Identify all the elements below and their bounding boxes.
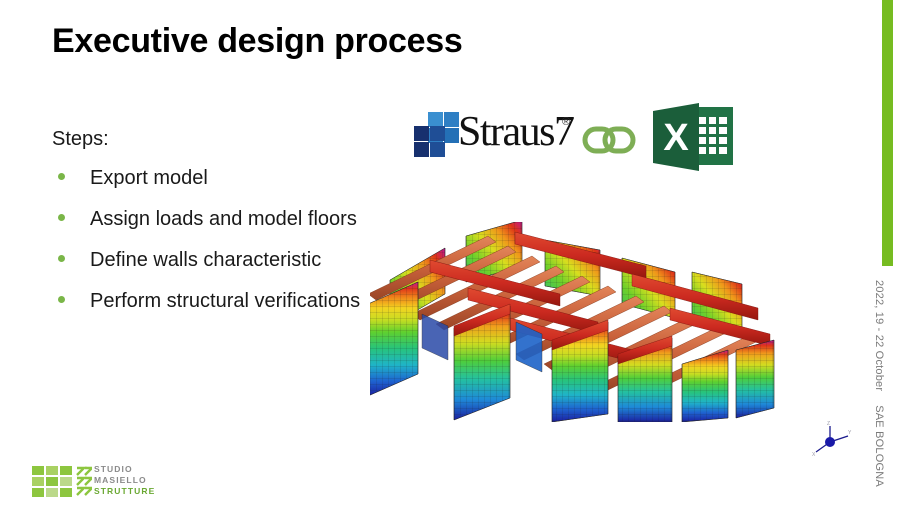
coordinate-axis-triad: Z Y X <box>810 420 854 458</box>
fea-structural-model <box>370 222 780 422</box>
accent-bar <box>882 0 893 266</box>
list-item: Export model <box>52 162 362 194</box>
list-item-label: Assign loads and model floors <box>90 208 357 230</box>
studio-logo-line-1: STUDIO <box>94 464 155 475</box>
event-place: SAE BOLOGNA <box>873 405 885 487</box>
registered-mark: ® <box>562 116 570 128</box>
studio-logo-grid-icon <box>32 466 74 497</box>
svg-text:Z: Z <box>827 421 830 427</box>
svg-text:X: X <box>812 452 816 458</box>
studio-logo-hatch-icon <box>76 466 92 497</box>
page-title: Executive design process <box>52 22 462 61</box>
steps-label: Steps: <box>52 128 109 151</box>
bullet-dot-icon <box>58 255 65 262</box>
straus7-wordmark: Straus7 <box>458 108 574 156</box>
studio-logo-line-2: MASIELLO <box>94 475 155 486</box>
straus7-grid-icon <box>414 112 458 156</box>
chain-link-icon <box>581 122 637 158</box>
excel-icon: X <box>653 103 735 171</box>
studio-logo-text: STUDIO MASIELLO STRUTTURE <box>94 464 155 497</box>
excel-letter: X <box>663 117 689 159</box>
event-side-text: 2022, 19 - 22 OctoberSAE BOLOGNA <box>871 280 885 480</box>
steps-list: Export model Assign loads and model floo… <box>52 162 362 326</box>
list-item: Define walls characteristic <box>52 244 362 276</box>
list-item-label: Define walls characteristic <box>90 249 321 271</box>
svg-text:Y: Y <box>848 430 852 436</box>
bullet-dot-icon <box>58 214 65 221</box>
studio-logo-line-3: STRUTTURE <box>94 486 155 497</box>
list-item-label: Perform structural verifications <box>90 290 360 312</box>
list-item: Perform structural verifications <box>52 285 362 317</box>
straus7-logo: Straus7 ® <box>414 112 574 164</box>
list-item-label: Export model <box>90 167 208 189</box>
bullet-dot-icon <box>58 173 65 180</box>
slide-canvas: Executive design process Steps: Export m… <box>0 0 900 506</box>
studio-masiello-logo: STUDIO MASIELLO STRUTTURE <box>32 464 167 500</box>
event-date: 2022, 19 - 22 October <box>873 280 885 391</box>
bullet-dot-icon <box>58 296 65 303</box>
list-item: Assign loads and model floors <box>52 203 362 235</box>
